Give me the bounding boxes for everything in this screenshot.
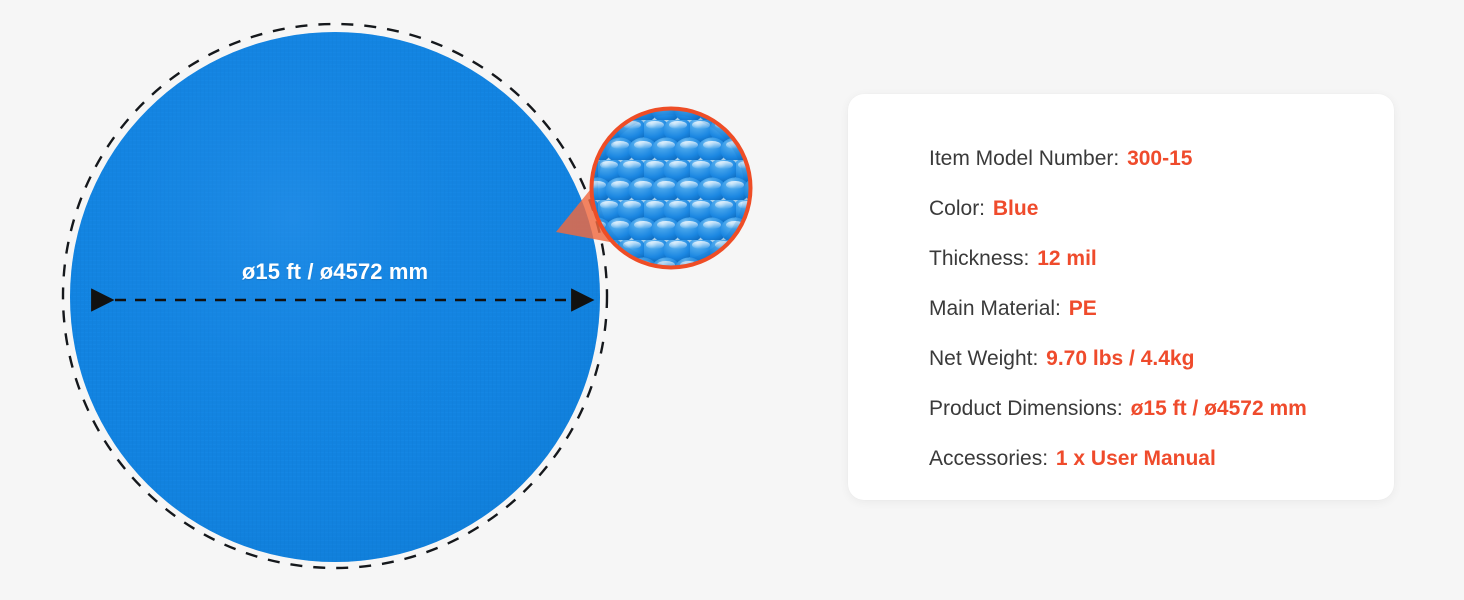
bubble-texture-magnifier	[590, 107, 756, 273]
spec-label: Net Weight:	[929, 347, 1038, 370]
spec-label: Item Model Number:	[929, 147, 1119, 170]
spec-label: Accessories:	[929, 447, 1048, 470]
product-illustration-svg	[0, 0, 800, 600]
spec-row-net-weight: Net Weight: 9.70 lbs / 4.4kg	[929, 334, 1374, 384]
product-illustration: ø15 ft / ø4572 mm	[0, 0, 800, 600]
spec-row-item-model-number: Item Model Number: 300-15	[929, 134, 1374, 184]
spec-value: 9.70 lbs / 4.4kg	[1046, 347, 1194, 370]
spec-row-thickness: Thickness: 12 mil	[929, 234, 1374, 284]
spec-value: PE	[1069, 297, 1097, 320]
spec-label: Product Dimensions:	[929, 397, 1123, 420]
spec-row-main-material: Main Material: PE	[929, 284, 1374, 334]
round-pool-cover-shading	[70, 32, 600, 562]
spec-value: ø15 ft / ø4572 mm	[1131, 397, 1307, 420]
spec-row-product-dimensions: Product Dimensions: ø15 ft / ø4572 mm	[929, 384, 1374, 434]
specification-card: Item Model Number: 300-15 Color: Blue Th…	[848, 94, 1394, 500]
spec-row-color: Color: Blue	[929, 184, 1374, 234]
spec-value: 300-15	[1127, 147, 1192, 170]
spec-label: Thickness:	[929, 247, 1029, 270]
diameter-label: ø15 ft / ø4572 mm	[135, 259, 535, 285]
spec-row-accessories: Accessories: 1 x User Manual	[929, 434, 1374, 484]
spec-value: 12 mil	[1037, 247, 1097, 270]
spec-value: Blue	[993, 197, 1039, 220]
spec-label: Color:	[929, 197, 985, 220]
infographic-stage: ø15 ft / ø4572 mm Item Model Number: 300…	[0, 0, 1464, 600]
specification-list: Item Model Number: 300-15 Color: Blue Th…	[929, 134, 1374, 484]
spec-value: 1 x User Manual	[1056, 447, 1216, 470]
spec-label: Main Material:	[929, 297, 1061, 320]
